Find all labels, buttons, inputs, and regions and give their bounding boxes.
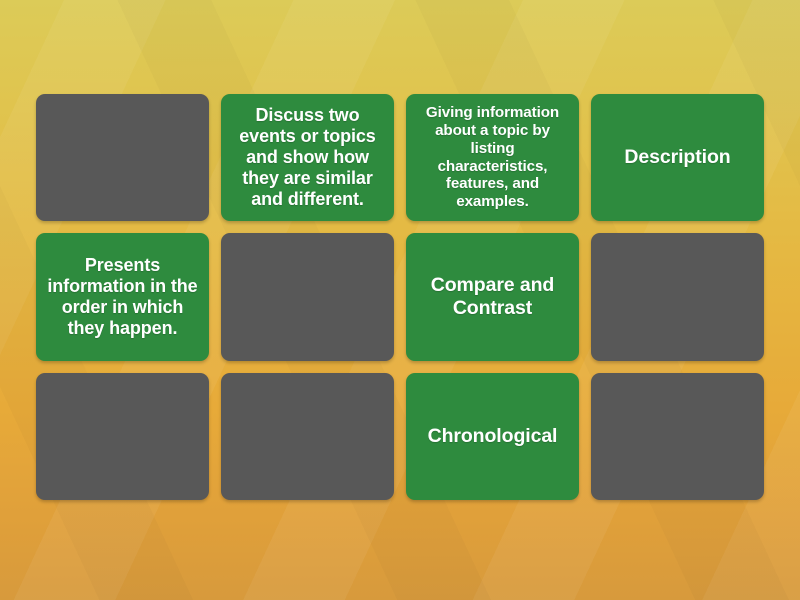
card-face-down-8[interactable] xyxy=(591,233,764,360)
card-face-up-7[interactable]: Compare and Contrast xyxy=(406,233,579,360)
card-label: Discuss two events or topics and show ho… xyxy=(230,105,385,209)
card-face-down-6[interactable] xyxy=(221,233,394,360)
card-face-down-12[interactable] xyxy=(591,373,764,500)
card-label: Chronological xyxy=(428,425,558,448)
card-face-up-2[interactable]: Discuss two events or topics and show ho… xyxy=(221,94,394,221)
card-face-up-5[interactable]: Presents information in the order in whi… xyxy=(36,233,209,360)
matching-pairs-card-grid: Discuss two events or topics and show ho… xyxy=(36,94,764,500)
card-face-down-9[interactable] xyxy=(36,373,209,500)
card-face-down-10[interactable] xyxy=(221,373,394,500)
card-label: Description xyxy=(624,146,730,169)
card-label: Presents information in the order in whi… xyxy=(45,255,200,339)
card-face-up-4[interactable]: Description xyxy=(591,94,764,221)
card-face-up-11[interactable]: Chronological xyxy=(406,373,579,500)
card-face-down-1[interactable] xyxy=(36,94,209,221)
card-face-up-3[interactable]: Giving information about a topic by list… xyxy=(406,94,579,221)
card-label: Compare and Contrast xyxy=(415,274,570,321)
card-label: Giving information about a topic by list… xyxy=(415,104,570,211)
